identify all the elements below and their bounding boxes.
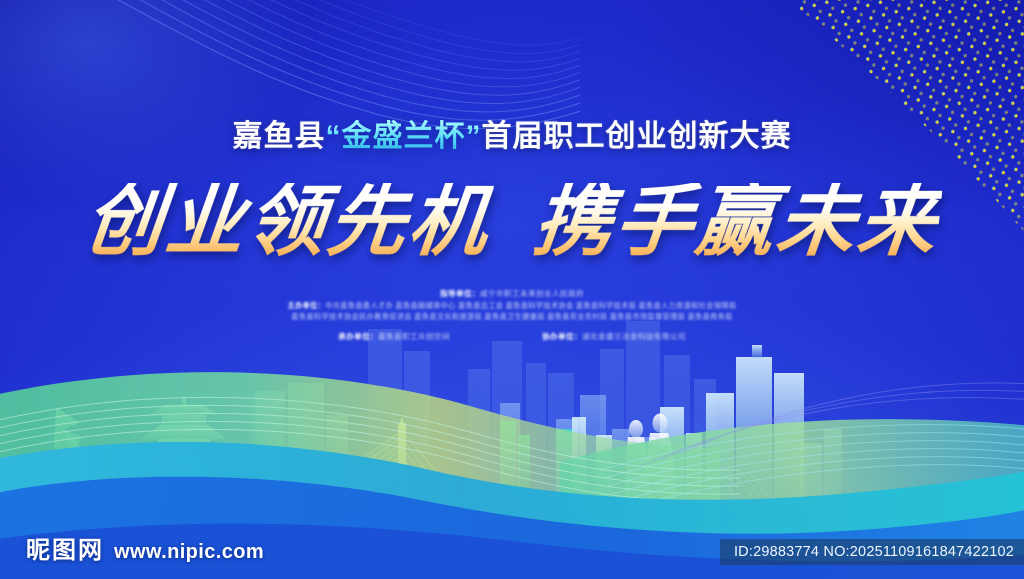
poster-canvas: 嘉鱼县“金盛兰杯”首届职工创业创新大赛 创业领先机携手赢未来 指导单位：咸宁市职… bbox=[0, 0, 1024, 579]
credits-organizer-label: 主办单位： bbox=[288, 301, 326, 310]
credits-row-organizer-cont: 嘉鱼县科学技术协会民办教育促进会 嘉鱼县文化和旅游局 嘉鱼县卫生健康局 嘉鱼县农… bbox=[0, 311, 1024, 322]
credits-host-label: 承办单位： bbox=[338, 332, 378, 341]
credits-cohost-label: 协办单位： bbox=[542, 332, 582, 341]
site-watermark: 昵图网 www.nipic.com bbox=[26, 530, 264, 565]
credits-cohost-value: 湖北金盛兰冶金科技有限公司 bbox=[582, 332, 686, 341]
headline-suffix: 首届职工创业创新大赛 bbox=[482, 120, 792, 153]
credits-block: 指导单位：咸宁市职工未来创业人民政府 主办单位：中共嘉鱼县委人才办 嘉鱼县融媒体… bbox=[0, 288, 1024, 343]
credits-row-organizer: 主办单位：中共嘉鱼县委人才办 嘉鱼县融媒体中心 嘉鱼县总工会 嘉鱼县科学技术协会… bbox=[0, 300, 1024, 311]
main-slogan: 创业领先机携手赢未来 bbox=[0, 183, 1024, 261]
credits-organizer-value-2: 嘉鱼县科学技术协会民办教育促进会 嘉鱼县文化和旅游局 嘉鱼县卫生健康局 嘉鱼县农… bbox=[291, 312, 732, 321]
headline-prefix: 嘉鱼县 bbox=[233, 120, 326, 153]
credits-organizer-value: 中共嘉鱼县委人才办 嘉鱼县融媒体中心 嘉鱼县总工会 嘉鱼县科学技术协会 嘉鱼县科… bbox=[325, 301, 736, 310]
credits-guidance-label: 指导单位： bbox=[440, 289, 480, 298]
watermark-brand: 昵图网 bbox=[26, 530, 104, 565]
credits-host-value: 嘉鱼县职工众创空间 bbox=[378, 332, 450, 341]
credits-row-host: 承办单位：嘉鱼县职工众创空间协办单位：湖北金盛兰冶金科技有限公司 bbox=[0, 331, 1024, 343]
event-headline: 嘉鱼县“金盛兰杯”首届职工创业创新大赛 bbox=[0, 122, 1024, 152]
credits-guidance-value: 咸宁市职工未来创业人民政府 bbox=[480, 289, 584, 298]
credits-row-guidance: 指导单位：咸宁市职工未来创业人民政府 bbox=[0, 288, 1024, 300]
watermark-url: www.nipic.com bbox=[114, 541, 264, 564]
image-id-badge: ID:29883774 NO:20251109161847422102 bbox=[720, 539, 1024, 565]
headline-accent-sponsor: “金盛兰杯” bbox=[326, 120, 482, 153]
slogan-left: 创业领先机 bbox=[81, 183, 494, 261]
slogan-right: 携手赢未来 bbox=[530, 183, 943, 261]
